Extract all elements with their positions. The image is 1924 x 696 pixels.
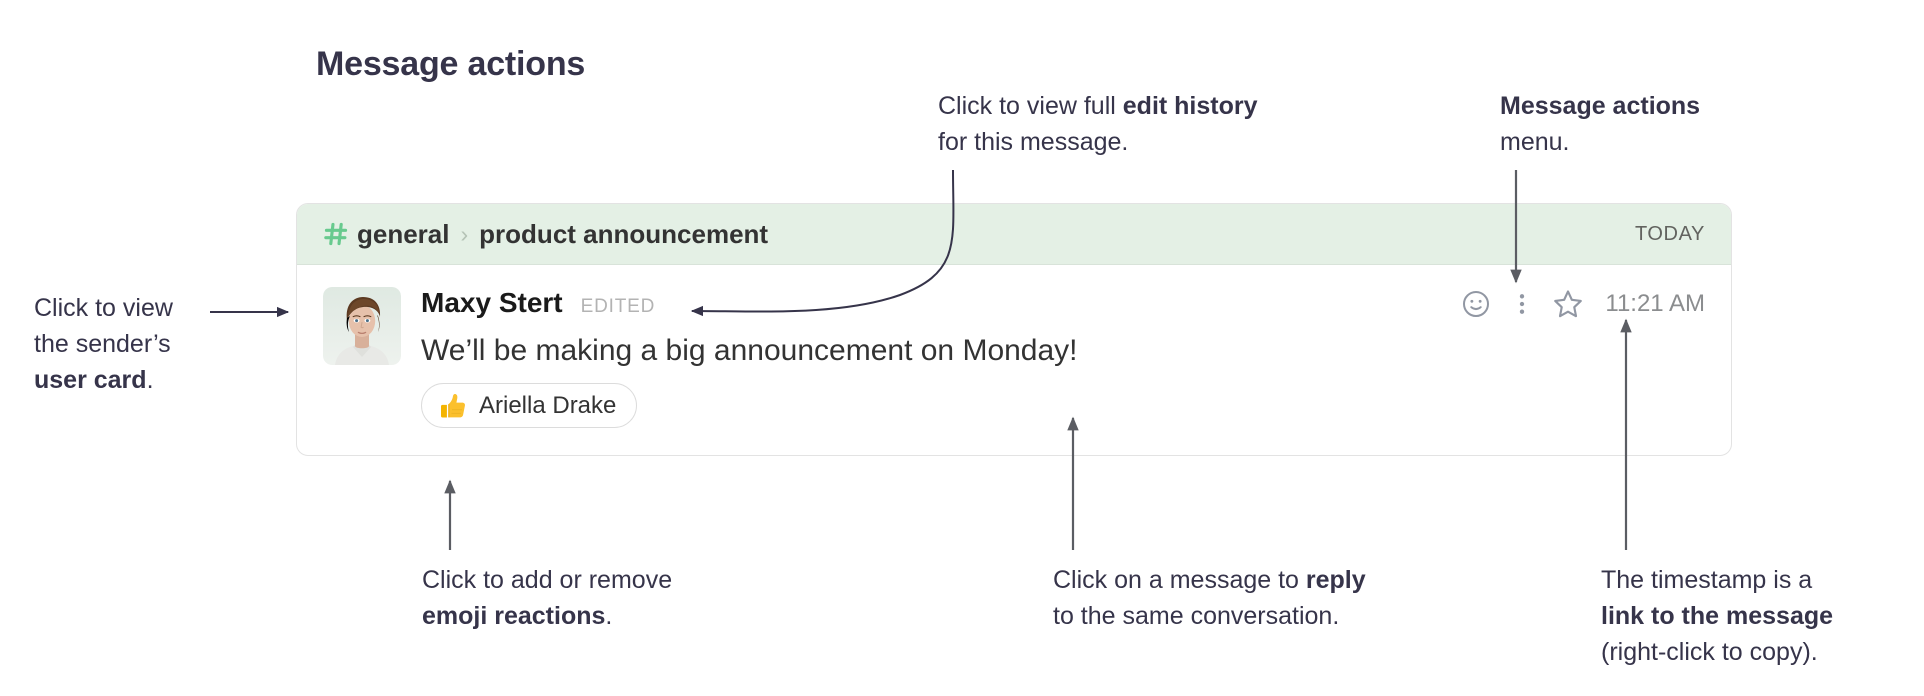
annotation-edit-history: Click to view full edit history for this… — [938, 88, 1258, 160]
annotation-tail: . — [147, 366, 154, 394]
message-timestamp[interactable]: 11:21 AM — [1605, 290, 1705, 318]
annotation-line: Click to view — [34, 290, 173, 326]
annotation-line: link to the message — [1601, 598, 1833, 634]
message-body[interactable]: We’ll be making a big announcement on Mo… — [421, 332, 1705, 370]
message-row[interactable]: Maxy Stert EDITED — [297, 265, 1731, 428]
annotation-line: user card. — [34, 362, 173, 398]
message-header-line: Maxy Stert EDITED — [421, 287, 1705, 323]
vertical-dots-icon[interactable] — [1499, 285, 1545, 323]
annotation-line: Message actions — [1500, 88, 1700, 124]
date-label: TODAY — [1635, 223, 1705, 246]
annotation-emoji-reactions: Click to add or remove emoji reactions. — [422, 562, 672, 634]
annotation-message-actions: Message actions menu. — [1500, 88, 1700, 160]
annotation-line: Click to view full edit history — [938, 88, 1258, 124]
annotation-lead: Click on a message to — [1053, 566, 1306, 594]
annotation-emphasis: reply — [1306, 566, 1366, 594]
sender-name[interactable]: Maxy Stert — [421, 287, 563, 319]
annotation-line: (right-click to copy). — [1601, 634, 1833, 670]
annotation-line: for this message. — [938, 124, 1258, 160]
star-icon[interactable] — [1545, 285, 1591, 323]
edited-label[interactable]: EDITED — [581, 296, 655, 318]
message-actions-bar: 11:21 AM — [1453, 285, 1705, 323]
topic-name[interactable]: product announcement — [479, 219, 768, 250]
page-title: Message actions — [316, 45, 585, 84]
reaction-list: Ariella Drake — [421, 383, 1705, 428]
emoji-reaction-icon[interactable] — [1453, 285, 1499, 323]
avatar[interactable] — [323, 287, 401, 365]
thumbs-up-emoji-icon — [438, 391, 468, 421]
annotation-user-card: Click to view the sender’s user card. — [34, 290, 173, 398]
annotation-line: The timestamp is a — [1601, 562, 1833, 598]
reaction-pill[interactable]: Ariella Drake — [421, 383, 637, 428]
message-card: general › product announcement TODAY — [296, 203, 1732, 456]
annotation-line: menu. — [1500, 124, 1700, 160]
annotation-emphasis: Message actions — [1500, 92, 1700, 120]
hash-icon — [323, 221, 349, 247]
annotation-tail: . — [605, 602, 612, 630]
message-content: Maxy Stert EDITED — [421, 287, 1705, 428]
annotation-reply: Click on a message to reply to the same … — [1053, 562, 1366, 634]
annotation-emphasis: link to the message — [1601, 602, 1833, 630]
annotation-line: the sender’s — [34, 326, 173, 362]
screenshot-root: Message actions — [0, 0, 1924, 696]
annotation-line: emoji reactions. — [422, 598, 672, 634]
annotation-emphasis: user card — [34, 366, 147, 394]
annotation-line: to the same conversation. — [1053, 598, 1366, 634]
reaction-label: Ariella Drake — [479, 392, 616, 420]
breadcrumb-separator-icon: › — [461, 223, 469, 246]
annotation-lead: Click to view full — [938, 92, 1123, 120]
annotation-line: Click to add or remove — [422, 562, 672, 598]
annotation-line: Click on a message to reply — [1053, 562, 1366, 598]
annotation-emphasis: emoji reactions — [422, 602, 605, 630]
message-recipient-bar: general › product announcement TODAY — [297, 204, 1731, 265]
annotation-timestamp: The timestamp is a link to the message (… — [1601, 562, 1833, 670]
stream-name[interactable]: general — [357, 219, 450, 250]
annotation-emphasis: edit history — [1123, 92, 1258, 120]
